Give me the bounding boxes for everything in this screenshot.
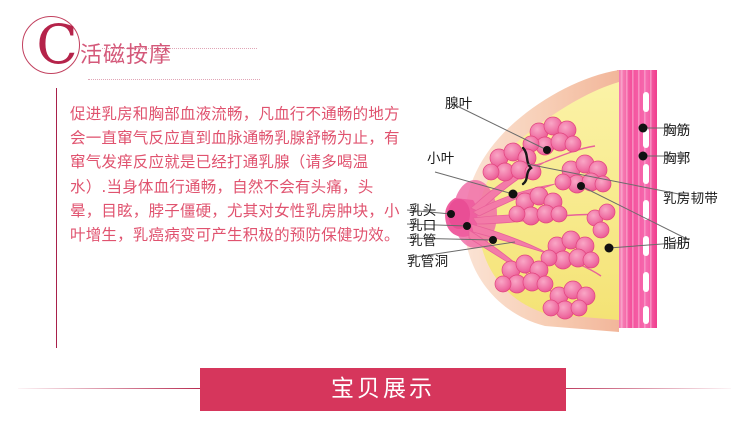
- label-milk-duct: 乳管: [409, 229, 437, 249]
- banner-rule-left: [18, 388, 208, 389]
- label-thorax: 胸郭: [663, 147, 691, 167]
- badge-letter: C: [26, 14, 88, 76]
- label-fat: 脂肪: [663, 232, 691, 252]
- body-paragraph: 促进乳房和胸部血液流畅，凡血行不通畅的地方会一直窜气反应直到血脉通畅乳腺舒畅为止…: [70, 102, 400, 247]
- page-title: 活磁按摩: [80, 37, 172, 69]
- label-lactiferous-sinus: 乳管洞: [407, 250, 448, 270]
- banner-title: 宝贝展示: [200, 368, 566, 411]
- chest-wall-group: [617, 70, 657, 328]
- promo-page: C 活磁按摩 促进乳房和胸部血液流畅，凡血行不通畅的地方会一直窜气反应直到血脉通…: [0, 0, 749, 435]
- vertical-accent-rule: [56, 88, 57, 348]
- banner-rule-right: [541, 388, 731, 389]
- section-header: C 活磁按摩: [18, 12, 278, 78]
- label-lobule: 小叶: [427, 147, 455, 167]
- banner-box: 宝贝展示: [200, 368, 566, 411]
- label-breast-ligament: 乳房韧带: [663, 187, 718, 207]
- breast-anatomy-diagram: 腺叶 小叶 乳头 乳口 乳管 乳管洞 胸筋 胸郭 乳房韧带 脂肪: [395, 62, 749, 340]
- section-banner: 宝贝展示: [0, 358, 749, 420]
- label-gland-lobe: 腺叶: [445, 92, 473, 112]
- header-dotted-rule-bottom: [88, 79, 260, 80]
- label-pectoral-muscle: 胸筋: [663, 119, 691, 139]
